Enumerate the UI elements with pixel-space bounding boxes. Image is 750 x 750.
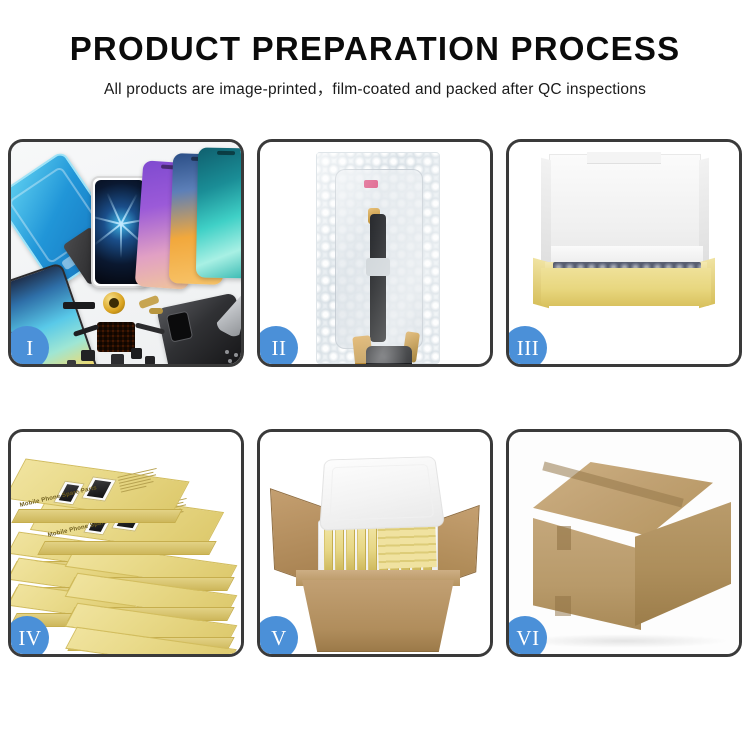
stacked-box xyxy=(71,638,231,654)
phone-notch xyxy=(217,151,235,155)
stacked-boxes-panel: Mobile Phone Spare Parts Mobile Phone Sp… xyxy=(8,429,244,657)
box-stack: Mobile Phone Spare Parts Mobile Phone Sp… xyxy=(11,432,241,654)
stacked-boxes-image: Mobile Phone Spare Parts Mobile Phone Sp… xyxy=(11,432,241,654)
small-component-part xyxy=(81,350,95,361)
step-badge-3: III xyxy=(506,326,547,367)
page-title: PRODUCT PREPARATION PROCESS xyxy=(0,32,750,67)
gold-contact-part xyxy=(149,308,163,314)
small-component-part xyxy=(145,356,155,364)
step-badge-4: IV xyxy=(8,616,49,657)
step-badge-2: II xyxy=(257,326,298,367)
sealed-carton-image xyxy=(509,432,739,654)
box-side-face xyxy=(37,541,216,555)
connector-chip-part xyxy=(97,322,135,352)
sealed-carton-panel: VI xyxy=(506,429,742,657)
raw-parts-image xyxy=(11,142,241,364)
bubble-wrap-sheet xyxy=(316,152,440,364)
flex-cable-strip xyxy=(370,214,386,342)
bubble-wrap-image xyxy=(260,142,490,364)
small-component-part xyxy=(131,348,142,359)
lid-flap xyxy=(587,152,661,164)
flex-cable-part xyxy=(63,302,95,309)
page-header: PRODUCT PREPARATION PROCESS All products… xyxy=(0,0,750,99)
carton-tape-lower xyxy=(555,596,571,616)
foam-carton-panel: V xyxy=(257,429,493,657)
wrapped-screen-assembly xyxy=(335,169,423,349)
phone-teal xyxy=(196,148,241,279)
screen-burst-ray xyxy=(120,224,122,258)
flex-cable-pad xyxy=(366,258,390,276)
carton-tape-upper xyxy=(557,526,571,550)
step-badge-1: I xyxy=(8,326,49,367)
inner-box-panel: III xyxy=(506,139,742,367)
carton-front-face xyxy=(302,580,454,652)
connector-cluster xyxy=(366,346,412,364)
vibration-motor-part xyxy=(103,292,125,314)
process-steps-grid: I II xyxy=(8,139,742,657)
pink-label-sticker xyxy=(364,180,378,188)
screen-burst-ray xyxy=(95,223,122,246)
foam-carton-image xyxy=(260,432,490,654)
page-subtitle: All products are image-printed，film-coat… xyxy=(0,77,750,99)
small-component-part xyxy=(111,354,124,364)
carton-shadow xyxy=(519,634,729,648)
kraft-tray-body xyxy=(541,268,711,306)
product-preparation-page: PRODUCT PREPARATION PROCESS All products… xyxy=(0,0,750,750)
raw-parts-panel: I xyxy=(8,139,244,367)
box-side-face xyxy=(11,509,182,523)
inner-box-image xyxy=(509,142,739,364)
carton-front-face xyxy=(533,518,641,630)
small-component-part xyxy=(67,360,76,364)
foam-box-lid xyxy=(319,456,445,531)
bubble-wrap-panel: II xyxy=(257,139,493,367)
step-badge-6: VI xyxy=(506,616,547,657)
step-badge-5: V xyxy=(257,616,298,657)
screws-group xyxy=(225,350,241,364)
